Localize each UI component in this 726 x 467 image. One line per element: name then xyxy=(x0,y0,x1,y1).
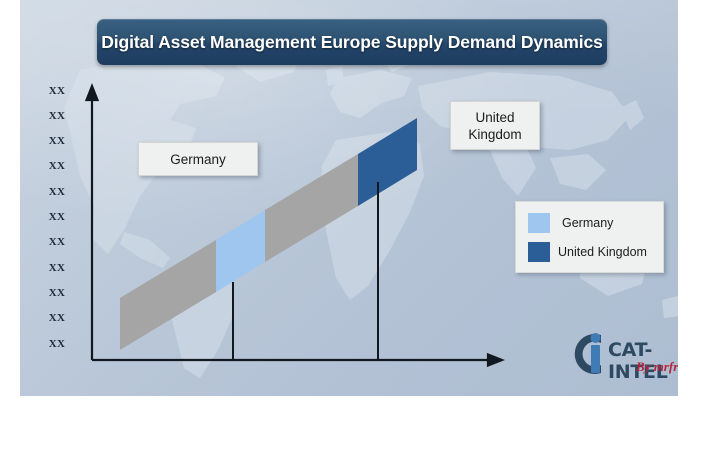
cat-intel-byline: By mrfr xyxy=(636,359,678,375)
legend-label-germany: Germany xyxy=(562,216,613,230)
y-tick-label: XX xyxy=(42,135,72,147)
y-tick-label: XX xyxy=(42,85,72,97)
callout-united-kingdom-label: United Kingdom xyxy=(468,109,521,143)
legend-item-germany: Germany xyxy=(528,213,613,233)
band-segment-neutral-middle xyxy=(265,154,358,262)
chart-legend: Germany United Kingdom xyxy=(515,201,664,273)
callout-germany: Germany xyxy=(138,142,258,176)
legend-label-united-kingdom: United Kingdom xyxy=(558,245,647,259)
y-tick-label: XX xyxy=(42,338,72,350)
y-tick-label: XX xyxy=(42,262,72,274)
callout-united-kingdom: United Kingdom xyxy=(450,101,540,150)
y-tick-label: XX xyxy=(42,160,72,172)
page-title: Digital Asset Management Europe Supply D… xyxy=(101,32,603,53)
callout-uk-line-2: Kingdom xyxy=(468,127,521,142)
legend-swatch-germany xyxy=(528,213,550,233)
y-tick-label: XX xyxy=(42,211,72,223)
band-segment-germany xyxy=(216,210,265,292)
cat-intel-logo: CAT-INTEL By mrfr xyxy=(561,325,678,383)
y-tick-label: XX xyxy=(42,236,72,248)
band-segment-united-kingdom xyxy=(358,118,417,206)
chart-canvas: XX XX XX XX XX XX XX XX XX XX XX Germany… xyxy=(0,0,726,467)
y-tick-label: XX xyxy=(42,287,72,299)
legend-item-united-kingdom: United Kingdom xyxy=(528,242,647,262)
y-tick-label: XX xyxy=(42,110,72,122)
callout-uk-line-1: United xyxy=(475,110,514,125)
y-tick-label: XX xyxy=(42,186,72,198)
callout-germany-label: Germany xyxy=(170,151,226,168)
band-segment-neutral-left xyxy=(120,240,216,350)
legend-swatch-united-kingdom xyxy=(528,242,550,262)
y-axis xyxy=(87,86,98,360)
x-axis xyxy=(92,355,502,366)
y-tick-label: XX xyxy=(42,312,72,324)
chart-title-bar: Digital Asset Management Europe Supply D… xyxy=(97,19,607,65)
